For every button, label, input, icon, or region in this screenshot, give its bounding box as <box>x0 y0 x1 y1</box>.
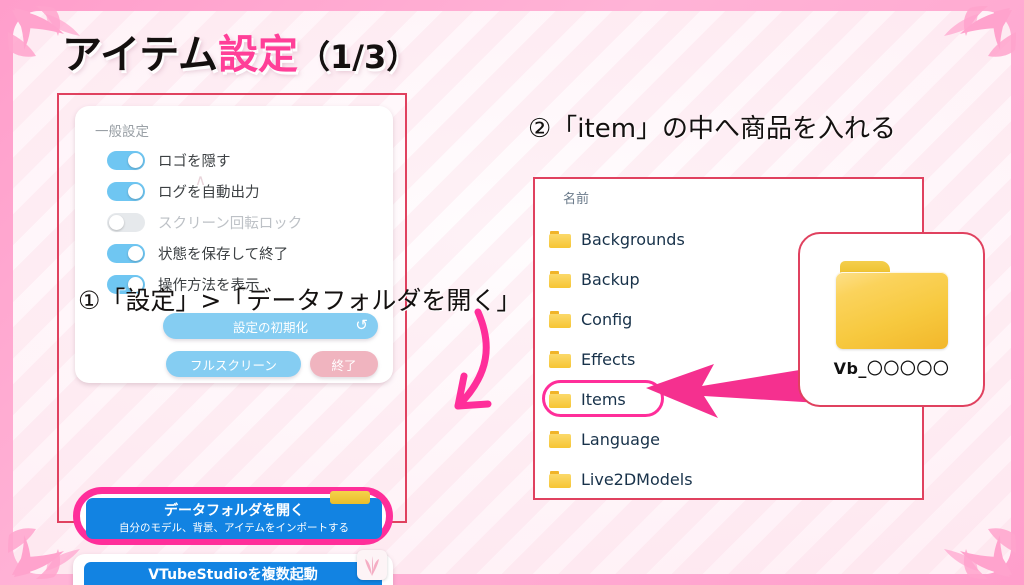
folder-icon <box>549 311 571 328</box>
open-data-folder-subtitle: 自分のモデル、背景、アイテムをインポートする <box>86 521 382 536</box>
folder-icon <box>549 471 571 488</box>
quit-label: 終了 <box>331 355 356 374</box>
setting-row[interactable]: ログを自動出力 <box>107 177 379 205</box>
folder-name: Live2DModels <box>581 470 693 489</box>
open-data-folder-title: データフォルダを開く <box>86 502 382 521</box>
step-2-caption: ②「item」の中へ商品を入れる <box>528 108 896 145</box>
folder-name: Backup <box>581 270 640 289</box>
toggle-switch[interactable] <box>107 151 145 170</box>
folder-icon <box>549 271 571 288</box>
page-title-black: アイテム <box>62 32 218 78</box>
page-title-paging: （1/3） <box>298 38 418 76</box>
toggle-switch[interactable] <box>107 244 145 263</box>
toggle-switch[interactable] <box>107 182 145 201</box>
folder-name: Effects <box>581 350 635 369</box>
folder-name: Backgrounds <box>581 230 685 249</box>
list-item[interactable]: Live2DModels <box>549 459 879 499</box>
folder-icon <box>836 261 948 349</box>
folder-icon <box>549 351 571 368</box>
folder-tab-icon <box>330 491 370 504</box>
folder-icon <box>549 431 571 448</box>
multi-launch-card: VTubeStudioを複数起動 新しく VTubeStudio を複数起動しま… <box>73 554 393 585</box>
page-title-pink: 設定 <box>218 32 298 78</box>
folder-icon <box>549 231 571 248</box>
leaf-icon <box>357 550 387 580</box>
quit-button[interactable]: 終了 <box>310 351 378 377</box>
multi-launch-title: VTubeStudioを複数起動 <box>84 566 382 585</box>
setting-label: 状態を保存して終了 <box>158 243 288 264</box>
toggle-knob <box>128 246 143 261</box>
step-1-caption: ①「設定」>「データフォルダを開く」 <box>78 281 521 317</box>
settings-screenshot-panel: 一般設定 ロゴを隠す ログを自動出力 スクリーン回転ロック 状態を保存して終了 … <box>57 93 407 523</box>
chevron-up-icon[interactable]: ∧ <box>195 171 206 189</box>
bottom-button-row: フルスクリーン 終了 <box>163 351 378 377</box>
item-folder-prefix: Vb_ <box>834 359 867 378</box>
setting-row[interactable]: 状態を保存して終了 <box>107 239 379 267</box>
folder-name: Config <box>581 310 632 329</box>
fullscreen-label: フルスクリーン <box>190 355 277 374</box>
toggle-knob <box>128 184 143 199</box>
column-header-name[interactable]: 名前 <box>563 188 589 207</box>
general-settings-title: 一般設定 <box>95 120 379 140</box>
setting-row[interactable]: スクリーン回転ロック <box>107 208 379 236</box>
setting-label: ロゴを隠す <box>158 150 231 171</box>
folder-name: Language <box>581 430 660 449</box>
multi-launch-button[interactable]: VTubeStudioを複数起動 新しく VTubeStudio を複数起動しま… <box>84 562 382 585</box>
refresh-icon: ↺ <box>355 316 368 335</box>
item-folder-circles: 〇〇〇〇〇 <box>867 359 950 378</box>
toggle-knob <box>128 153 143 168</box>
general-settings-card: 一般設定 ロゴを隠す ログを自動出力 スクリーン回転ロック 状態を保存して終了 … <box>75 106 393 383</box>
item-folder-callout: Vb_〇〇〇〇〇 <box>798 232 985 407</box>
folder-icon <box>549 391 571 408</box>
curved-arrow-down-left-icon <box>406 300 526 450</box>
page-title: アイテム設定（1/3） <box>62 22 418 80</box>
item-folder-label: Vb_〇〇〇〇〇 <box>834 355 950 379</box>
setting-label: ログを自動出力 <box>158 181 260 202</box>
toggle-knob <box>109 215 124 230</box>
setting-row[interactable]: ロゴを隠す <box>107 146 379 174</box>
reset-settings-label: 設定の初期化 <box>233 317 308 336</box>
open-data-folder-button[interactable]: データフォルダを開く 自分のモデル、背景、アイテムをインポートする <box>86 498 382 539</box>
setting-label: スクリーン回転ロック <box>158 212 302 233</box>
open-data-folder-highlight: データフォルダを開く 自分のモデル、背景、アイテムをインポートする <box>73 487 393 545</box>
toggle-switch[interactable] <box>107 213 145 232</box>
fullscreen-button[interactable]: フルスクリーン <box>166 351 301 377</box>
